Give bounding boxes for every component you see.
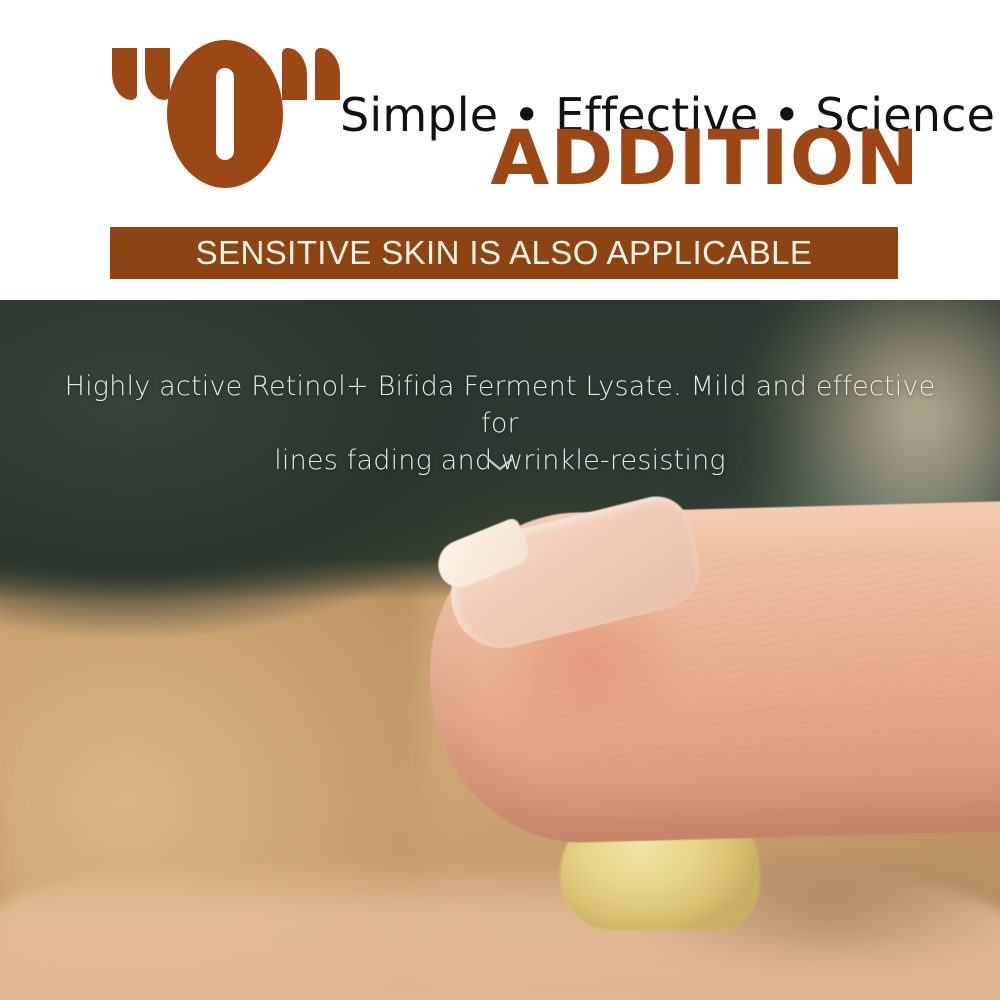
description-line-1: Highly active Retinol+ Bifida Ferment Ly… xyxy=(60,368,940,442)
chevron-down-icon xyxy=(487,458,513,472)
header-section: Simple • Effective • Science ADDITION SE… xyxy=(0,0,1000,300)
open-quote-icon xyxy=(112,48,174,100)
close-quote-icon xyxy=(278,48,340,100)
page-title: ADDITION xyxy=(0,120,1000,196)
hero-photo-section: Highly active Retinol+ Bifida Ferment Ly… xyxy=(0,300,1000,1000)
scroll-hint[interactable] xyxy=(0,450,1000,476)
product-marketing-page: Simple • Effective • Science ADDITION SE… xyxy=(0,0,1000,1000)
sensitive-skin-banner: SENSITIVE SKIN IS ALSO APPLICABLE xyxy=(110,227,898,279)
banner-label: SENSITIVE SKIN IS ALSO APPLICABLE xyxy=(196,234,813,272)
